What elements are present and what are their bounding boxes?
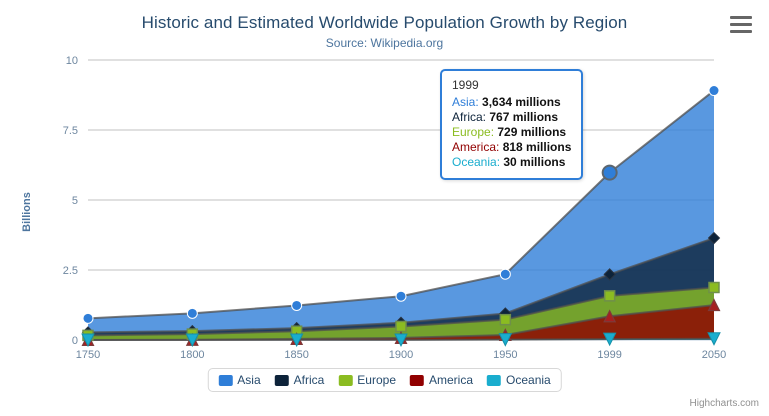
marker-asia[interactable] (500, 269, 510, 279)
legend-swatch-icon (487, 375, 501, 386)
legend-item-oceania[interactable]: Oceania (487, 373, 551, 387)
y-axis-tick-label: 0 (72, 335, 78, 347)
x-axis-tick-label: 1900 (389, 349, 413, 361)
legend-swatch-icon (338, 375, 352, 386)
marker-asia[interactable] (187, 308, 197, 318)
legend-label: Africa (294, 373, 325, 387)
y-axis-title: Billions (21, 192, 33, 232)
x-axis-tick-label: 1850 (284, 349, 308, 361)
marker-asia[interactable] (83, 313, 93, 323)
legend-item-asia[interactable]: Asia (218, 373, 260, 387)
marker-europe[interactable] (605, 291, 615, 301)
x-axis-tick-label: 1999 (597, 349, 621, 361)
credits-link[interactable]: Highcharts.com (690, 398, 759, 409)
y-axis-tick-label: 2.5 (63, 265, 78, 277)
legend-label: Europe (357, 373, 396, 387)
highcharts-container: Historic and Estimated Worldwide Populat… (0, 0, 769, 416)
x-axis-labels: 1750180018501900195019992050 (76, 349, 726, 361)
legend-item-america[interactable]: America (410, 373, 473, 387)
x-axis-tick-label: 2050 (702, 349, 726, 361)
marker-asia[interactable] (292, 300, 302, 310)
legend-item-europe[interactable]: Europe (338, 373, 396, 387)
marker-asia[interactable] (603, 166, 617, 180)
legend-swatch-icon (218, 375, 232, 386)
y-axis-labels: 02.557.510 (63, 55, 78, 347)
marker-asia[interactable] (396, 291, 406, 301)
y-axis-tick-label: 7.5 (63, 125, 78, 137)
legend-label: Asia (237, 373, 260, 387)
x-axis-tick-label: 1800 (180, 349, 204, 361)
marker-europe[interactable] (709, 283, 719, 293)
legend-label: Oceania (506, 373, 551, 387)
x-axis-tick-label: 1950 (493, 349, 517, 361)
y-axis-tick-label: 10 (66, 55, 78, 67)
chart-plot-area: 02.557.510 1750180018501900195019992050 … (0, 0, 769, 416)
legend-item-africa[interactable]: Africa (275, 373, 325, 387)
marker-asia[interactable] (709, 86, 719, 96)
legend-label: America (429, 373, 473, 387)
chart-legend: AsiaAfricaEuropeAmericaOceania (207, 368, 561, 392)
marker-europe[interactable] (396, 321, 406, 331)
marker-europe[interactable] (500, 315, 510, 325)
legend-swatch-icon (410, 375, 424, 386)
y-axis-tick-label: 5 (72, 195, 78, 207)
x-axis-tick-label: 1750 (76, 349, 100, 361)
legend-swatch-icon (275, 375, 289, 386)
series-areas (88, 91, 714, 340)
